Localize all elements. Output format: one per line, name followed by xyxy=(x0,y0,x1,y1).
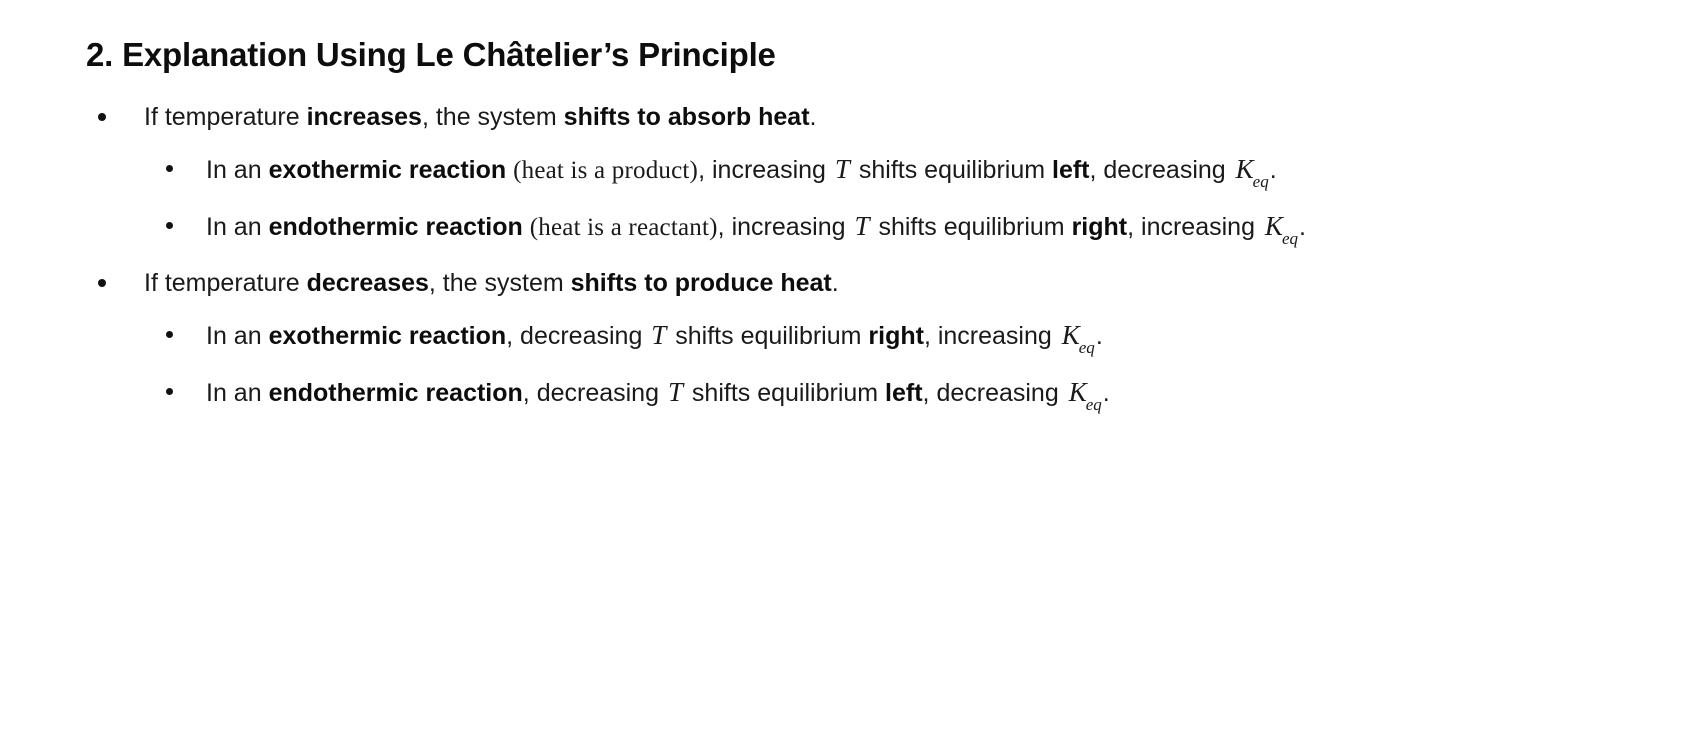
list-item-text: If temperature increases, the system shi… xyxy=(144,103,817,131)
text-segment: . xyxy=(1103,379,1110,407)
math-subscript-eq: eq xyxy=(1282,229,1298,248)
math-variable-k: K xyxy=(1262,211,1283,241)
math-parenthetical: (heat is a reactant) xyxy=(530,214,718,241)
emphasis-text: left xyxy=(1052,156,1090,184)
text-segment: , increasing xyxy=(698,156,833,184)
emphasis-text: left xyxy=(885,379,923,407)
text-segment: , decreasing xyxy=(1090,156,1233,184)
bullet-dot-icon xyxy=(98,113,106,121)
text-segment: In an xyxy=(206,213,269,241)
text-segment: , increasing xyxy=(924,322,1059,350)
math-variable-t: T xyxy=(649,320,668,350)
text-segment: . xyxy=(1299,213,1306,241)
emphasis-text: endothermic reaction xyxy=(269,379,523,407)
math-variable-t: T xyxy=(833,154,852,184)
list-item: In an exothermic reaction (heat is a pro… xyxy=(144,150,1634,191)
math-parenthetical: (heat is a product) xyxy=(513,157,698,184)
text-segment: , decreasing xyxy=(506,322,649,350)
text-segment: , decreasing xyxy=(523,379,666,407)
text-segment: , the system xyxy=(429,269,571,297)
text-segment: , increasing xyxy=(718,213,853,241)
sub-list: In an exothermic reaction, decreasing T … xyxy=(86,316,1634,414)
math-variable-t: T xyxy=(666,377,685,407)
bullet-dot-icon xyxy=(166,388,173,395)
text-segment: shifts equilibrium xyxy=(685,379,885,407)
text-segment: . xyxy=(810,103,817,131)
list-item-text: In an exothermic reaction, decreasing T … xyxy=(206,322,1103,350)
text-segment: shifts equilibrium xyxy=(872,213,1072,241)
list-item: If temperature decreases, the system shi… xyxy=(86,265,1634,302)
page-title: 2. Explanation Using Le Châtelier’s Prin… xyxy=(86,34,1634,75)
text-segment: . xyxy=(1096,322,1103,350)
list-item-text: In an endothermic reaction (heat is a re… xyxy=(206,213,1306,241)
bullet-dot-icon xyxy=(166,331,173,338)
text-segment: If temperature xyxy=(144,269,307,297)
math-variable-t: T xyxy=(852,211,871,241)
emphasis-text: exothermic reaction xyxy=(269,322,507,350)
list-item: In an exothermic reaction, decreasing T … xyxy=(144,316,1634,357)
bullet-dot-icon xyxy=(166,165,173,172)
emphasis-text: decreases xyxy=(307,269,429,297)
list-item: In an endothermic reaction, decreasing T… xyxy=(144,373,1634,414)
math-variable-k: K xyxy=(1059,320,1080,350)
emphasis-text: right xyxy=(868,322,924,350)
list-item-text: If temperature decreases, the system shi… xyxy=(144,269,839,297)
text-segment: , decreasing xyxy=(923,379,1066,407)
text-segment: shifts equilibrium xyxy=(852,156,1052,184)
text-segment: In an xyxy=(206,322,269,350)
text-segment xyxy=(523,213,530,241)
math-subscript-eq: eq xyxy=(1086,395,1102,414)
text-segment: In an xyxy=(206,156,269,184)
text-segment: . xyxy=(832,269,839,297)
emphasis-text: shifts to absorb heat xyxy=(564,103,810,131)
list-item: If temperature increases, the system shi… xyxy=(86,99,1634,136)
sub-list: In an exothermic reaction (heat is a pro… xyxy=(86,150,1634,248)
document-page: 2. Explanation Using Le Châtelier’s Prin… xyxy=(0,0,1694,730)
emphasis-text: increases xyxy=(307,103,422,131)
emphasis-text: exothermic reaction xyxy=(269,156,507,184)
text-segment: , the system xyxy=(422,103,564,131)
emphasis-text: right xyxy=(1072,213,1128,241)
emphasis-text: shifts to produce heat xyxy=(571,269,832,297)
text-segment: , increasing xyxy=(1127,213,1262,241)
bullet-dot-icon xyxy=(166,222,173,229)
text-segment: In an xyxy=(206,379,269,407)
text-segment: If temperature xyxy=(144,103,307,131)
emphasis-text: endothermic reaction xyxy=(269,213,523,241)
explanation-list: If temperature increases, the system shi… xyxy=(86,99,1634,414)
text-segment: . xyxy=(1270,156,1277,184)
list-item-text: In an endothermic reaction, decreasing T… xyxy=(206,379,1110,407)
math-subscript-eq: eq xyxy=(1079,338,1095,357)
bullet-dot-icon xyxy=(98,279,106,287)
text-segment: shifts equilibrium xyxy=(668,322,868,350)
math-variable-k: K xyxy=(1066,377,1087,407)
math-variable-k: K xyxy=(1233,154,1254,184)
math-subscript-eq: eq xyxy=(1253,172,1269,191)
list-item-text: In an exothermic reaction (heat is a pro… xyxy=(206,156,1277,184)
list-item: In an endothermic reaction (heat is a re… xyxy=(144,207,1634,248)
